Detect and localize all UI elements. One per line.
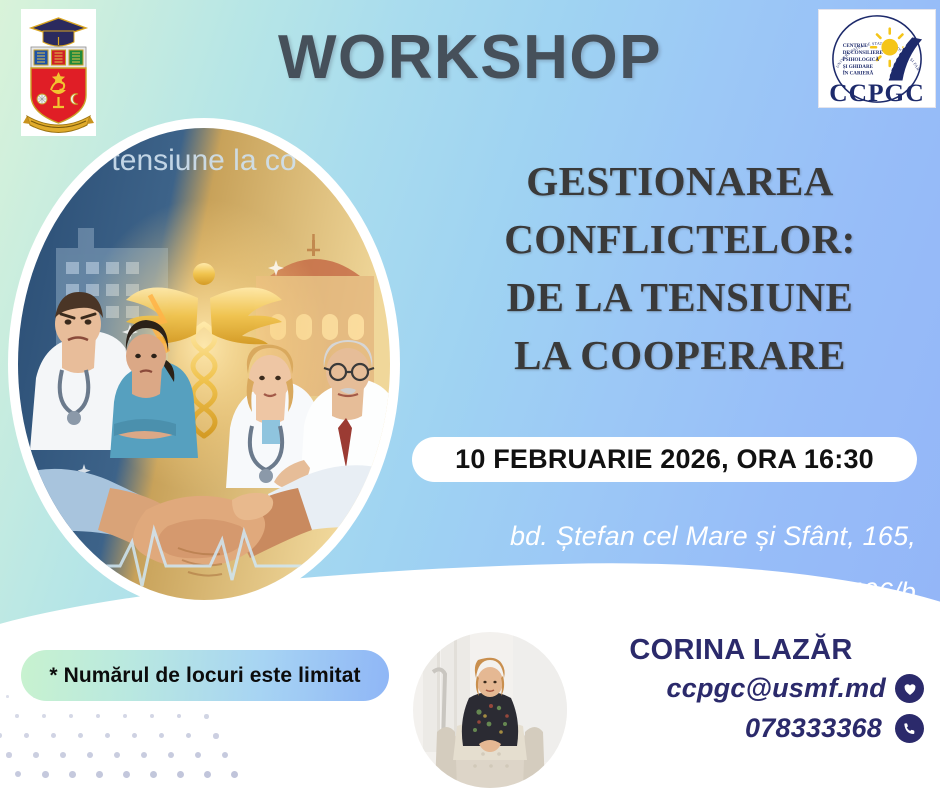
event-address: bd. Ștefan cel Mare și Sfânt, 165, bir. …	[370, 508, 916, 620]
contact-phone[interactable]: 078333368	[745, 713, 882, 744]
phone-icon	[895, 714, 924, 743]
headline-line-4: LA COOPERARE	[430, 326, 930, 384]
address-line-1: bd. Ștefan cel Mare și Sfânt, 165,	[370, 508, 916, 564]
workshop-headline: GESTIONAREA CONFLICTELOR: DE LA TENSIUNE…	[430, 152, 930, 384]
event-date-badge: 10 FEBRUARIE 2026, ORA 16:30	[412, 437, 917, 482]
svg-text:tensiune la co: tensiune la co	[111, 144, 296, 177]
contact-block: CORINA LAZĂR ccpgc@usmf.md 078333368	[560, 634, 940, 744]
contact-email[interactable]: ccpgc@usmf.md	[667, 673, 886, 704]
address-line-2: bir. 406/b	[370, 564, 916, 620]
headline-line-1: GESTIONAREA	[430, 152, 930, 210]
poster-canvas: UNIVERSITATEA DE STAT DE MEDICINĂ ȘI FAR…	[0, 0, 940, 788]
contact-phone-row[interactable]: 078333368	[560, 713, 940, 744]
heart-icon	[895, 674, 924, 703]
hero-image: tensiune la co	[8, 118, 400, 610]
hero-image-clip: tensiune la co	[18, 128, 390, 600]
speaker-photo	[413, 632, 567, 788]
limited-seats-badge: * Numărul de locuri este limitat	[21, 650, 389, 701]
page-title: WORKSHOP	[0, 22, 940, 93]
headline-line-3: DE LA TENSIUNE	[430, 268, 930, 326]
headline-line-2: CONFLICTELOR:	[430, 210, 930, 268]
speaker-name: CORINA LAZĂR	[560, 634, 940, 667]
contact-email-row[interactable]: ccpgc@usmf.md	[560, 673, 940, 704]
